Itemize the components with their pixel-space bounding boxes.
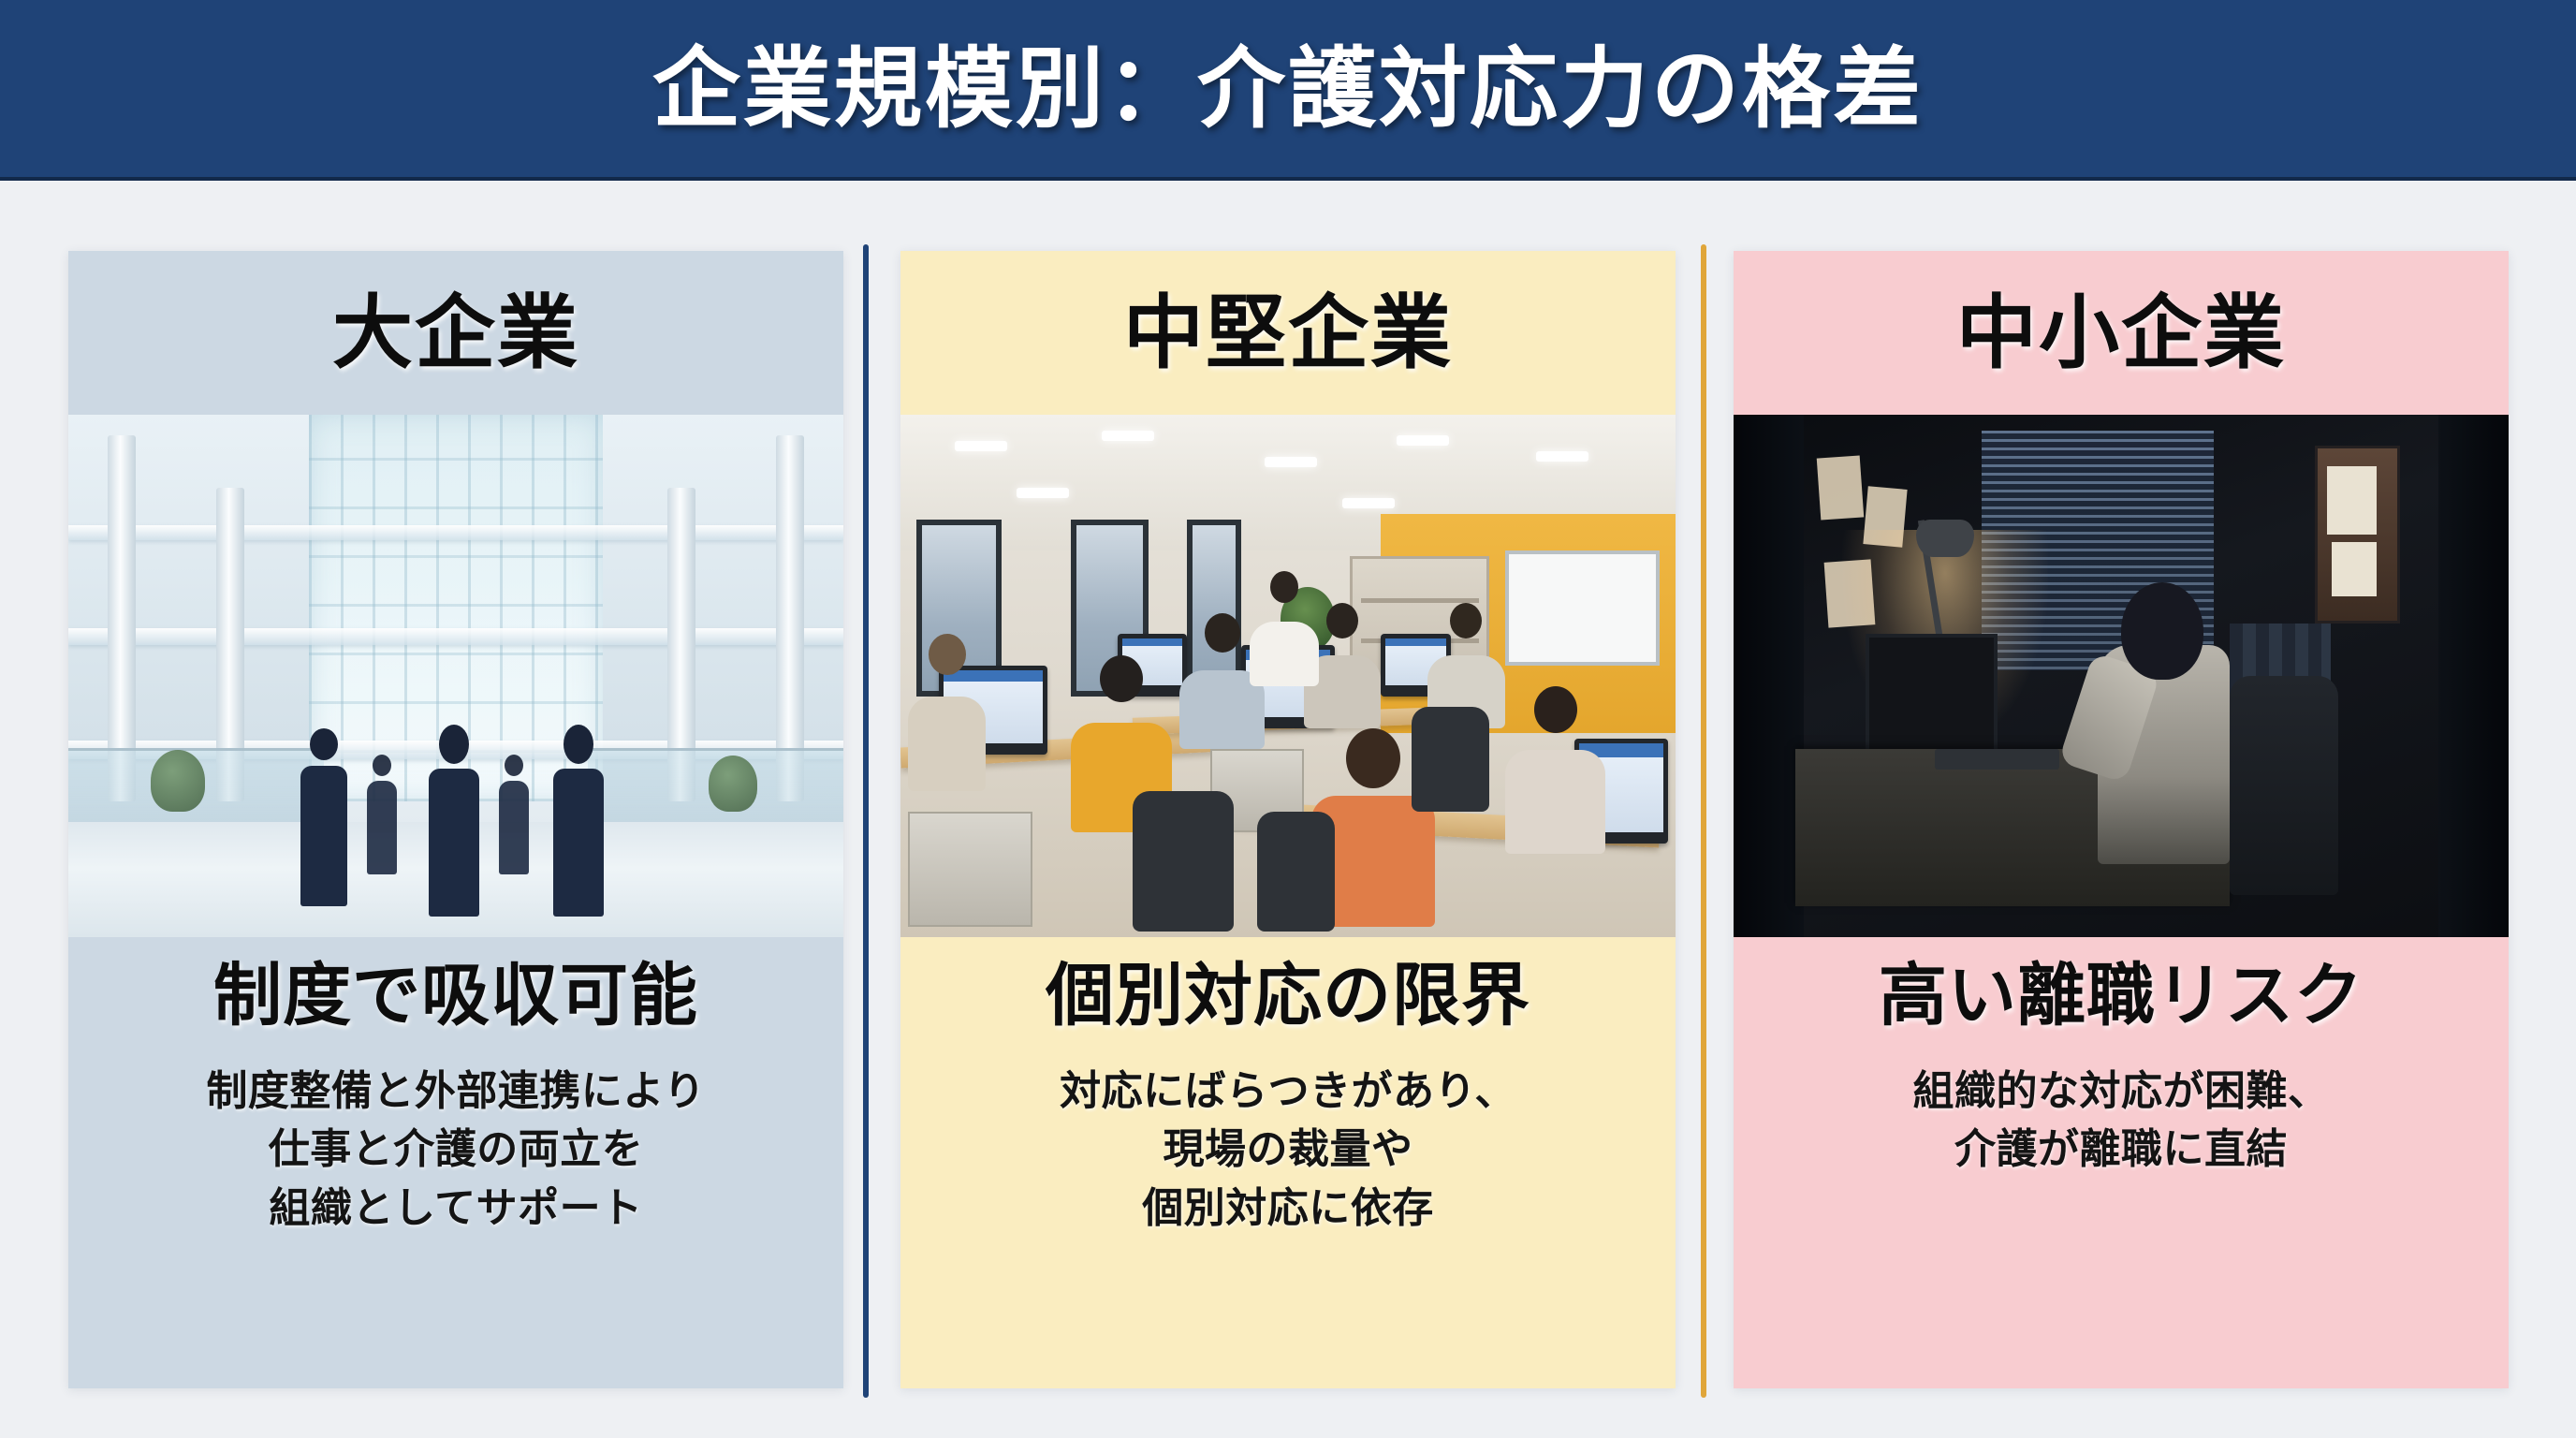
description-line: 現場の裁量や: [1060, 1121, 1516, 1179]
late-night-office-photo: [1734, 415, 2509, 937]
column-description: 対応にばらつきがあり、 現場の裁量や 個別対応に依存: [1060, 1063, 1516, 1238]
column-header-small-medium-enterprise: 中小企業: [1734, 251, 2509, 415]
description-line: 仕事と介護の両立を: [206, 1121, 705, 1179]
column-text-small-medium-enterprise: 高い離職リスク 組織的な対応が困難、 介護が離職に直結: [1734, 937, 2509, 1388]
description-line: 対応にばらつきがあり、: [1060, 1063, 1516, 1121]
divider-gold: [1701, 244, 1706, 1398]
title-banner: 企業規模別：介護対応力の格差: [0, 0, 2576, 181]
comparison-columns: 大企業: [0, 184, 2576, 1438]
column-mid-size-enterprise[interactable]: 中堅企業: [900, 251, 1676, 1388]
column-small-medium-enterprise[interactable]: 中小企業: [1734, 251, 2509, 1388]
slide-root: 企業規模別：介護対応力の格差 大企業: [0, 0, 2576, 1438]
page-title: 企業規模別：介護対応力の格差: [652, 45, 1924, 133]
column-headline: 制度で吸収可能: [213, 958, 698, 1034]
busy-open-office-photo: [900, 415, 1676, 937]
column-text-large-enterprise: 制度で吸収可能 制度整備と外部連携により 仕事と介護の両立を 組織としてサポート: [68, 937, 843, 1388]
corkboard: [2315, 446, 2400, 624]
description-line: 組織としてサポート: [206, 1180, 705, 1238]
column-header-label: 中小企業: [1956, 293, 2286, 374]
column-headline: 個別対応の限界: [1046, 958, 1530, 1034]
column-description: 制度整備と外部連携により 仕事と介護の両立を 組織としてサポート: [206, 1063, 705, 1238]
description-line: 制度整備と外部連携により: [206, 1063, 705, 1121]
corporate-atrium-photo: [68, 415, 843, 937]
description-line: 介護が離職に直結: [1913, 1121, 2330, 1179]
column-header-large-enterprise: 大企業: [68, 251, 843, 415]
column-description: 組織的な対応が困難、 介護が離職に直結: [1913, 1063, 2330, 1180]
description-line: 個別対応に依存: [1060, 1180, 1516, 1238]
column-header-mid-size-enterprise: 中堅企業: [900, 251, 1676, 415]
column-headline: 高い離職リスク: [1879, 958, 2364, 1034]
divider-navy: [863, 244, 869, 1398]
description-line: 組織的な対応が困難、: [1913, 1063, 2330, 1121]
column-header-label: 中堅企業: [1123, 293, 1453, 374]
column-text-mid-size-enterprise: 個別対応の限界 対応にばらつきがあり、 現場の裁量や 個別対応に依存: [900, 937, 1676, 1388]
column-large-enterprise[interactable]: 大企業: [68, 251, 843, 1388]
column-header-label: 大企業: [332, 293, 579, 374]
